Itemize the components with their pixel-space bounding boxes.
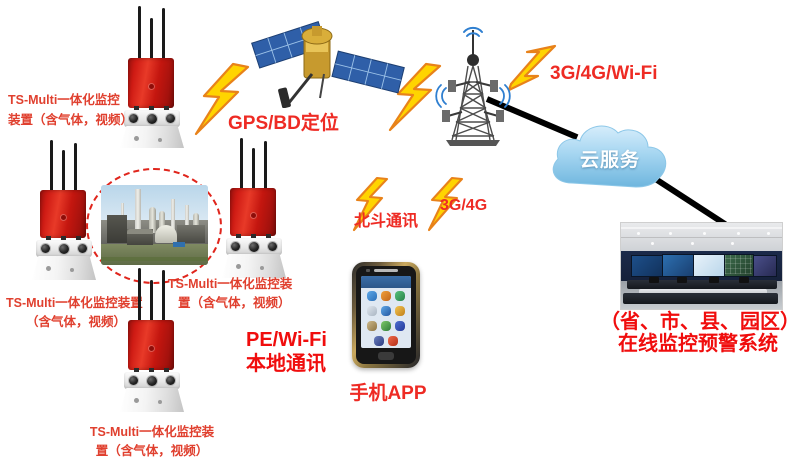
sensor-port-icon [231,242,240,251]
satellite-icon [246,12,406,108]
device-bottom-label-line2: 置（含气体，视频） [72,443,232,459]
device-bottom-label-line1: TS-Multi一体化监控装 [72,424,232,440]
camera-port-icon [59,244,69,254]
phone-screen[interactable] [361,276,411,348]
refinery-photo [101,185,208,265]
diagram-canvas: 云服务 （省、市、县、园区） 在线监控预警系统 [0,0,797,464]
link-label-local-line1: PE/Wi-Fi [246,328,327,354]
cloud-label: 云服务 [544,145,676,172]
video-wall-screen [753,255,777,277]
control-room-label-line2: 在线监控预警系统 [600,332,796,358]
handheld-device [352,262,420,368]
sensor-port-icon [41,244,50,253]
camera-port-icon [249,242,259,252]
phone-app-label: 手机APP [340,382,436,406]
device-top-left-label-line1: TS-Multi一体化监控 [8,92,120,108]
video-wall-screen [631,255,663,277]
link-label-mobile: 3G/4G [440,196,487,216]
link-label-gps: GPS/BD定位 [228,112,339,136]
device-center-label-line2: 置（含气体，视频） [178,295,291,311]
sensor-port-icon [78,244,87,253]
camera-port-icon [147,114,157,124]
control-room-photo [620,222,783,310]
sensor-port-icon [166,114,175,123]
sensor-port-icon [268,242,277,251]
link-label-local-line2: 本地通讯 [246,352,326,378]
sensor-port-icon [166,376,175,385]
camera-port-icon [147,376,157,386]
video-wall-screen [662,254,694,277]
sensor-port-icon [129,376,138,385]
device-top-left-label-line2: 装置（含气体，视频） [8,112,133,128]
video-wall-screen [693,254,725,277]
device-center [212,138,296,278]
cloud-service-node: 云服务 [544,117,676,199]
cell-tower-icon [430,24,516,150]
device-mid-left [22,140,106,280]
device-bottom [110,268,194,410]
link-label-beidou: 北斗通讯 [354,212,418,232]
link-label-mobile-wifi: 3G/4G/Wi-Fi [550,62,658,86]
